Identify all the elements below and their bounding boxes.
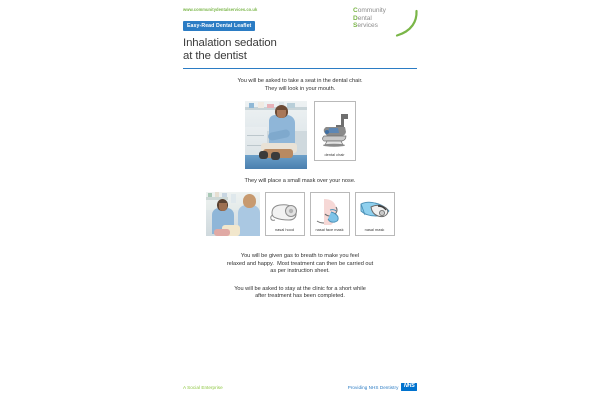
page-title: Inhalation sedation at the dentist [183,37,418,63]
logo-rest-dental: ental [358,15,372,22]
photo2-nurse-uniform [238,205,260,236]
screenshot-viewport: www.communitydentalservices.co.uk Easy-R… [0,0,600,400]
photo-dentist-face [277,110,286,118]
pictogram-nasal-mask: nasal mask [355,192,395,236]
nasal-hood-icon [269,200,301,224]
header-divider [183,68,417,70]
figure-row-chair: dental chair [172,101,428,169]
pictogram-nasal-face-mask: nasal face mask [310,192,350,236]
photo2-patient-shoulder [214,229,230,236]
photo-dentist-examining-patient-in-chair [245,101,307,169]
photo2-bg-bottle-c [222,193,227,197]
paragraph-gas-and-treatment: You will be given gas to breath to make … [172,253,428,275]
paragraph-3-line-3: as per instruction sheet. [188,268,412,275]
paragraph-4-line-2: after treatment has been completed. [188,293,412,300]
logo-rest-services: ervices [357,22,378,29]
photo2-bg-bottle-a [208,193,212,197]
pictogram-nasal-face-mask-art [311,196,349,227]
nhs-logo: NHS [401,383,417,391]
photo-bg-box-a [258,102,264,108]
paragraph-3-line-1: You will be given gas to breath to make … [188,253,412,260]
pictogram-nasal-hood-art [266,196,304,227]
pictogram-nasal-hood-caption: nasal hood [275,227,294,235]
paragraph-3-line-2: relaxed and happy. Most treatment can th… [188,261,412,268]
photo-patient-shoe-right [271,152,280,160]
photo2-bg-bottle-d [231,194,236,203]
photo-bg-bottle-a [249,103,254,108]
pictogram-dental-chair: dental chair [314,101,356,161]
pictogram-dental-chair-caption: dental chair [324,152,344,160]
paragraph-1-line-2: They will look in your mouth. [188,86,412,93]
green-swoosh-icon [392,10,418,37]
figure-row-masks: nasal hood nasal face mask [172,192,428,236]
pictogram-nasal-face-mask-caption: nasal face mask [315,227,343,235]
paragraph-small-mask: They will place a small mask over your n… [172,178,428,185]
photo-bg-box-b [267,104,274,108]
nasal-face-mask-icon [314,199,346,225]
paragraph-stay-at-clinic: You will be asked to stay at the clinic … [172,286,428,301]
providing-nhs-dentistry-label: Providing NHS Dentistry [348,385,399,390]
paragraph-4-line-1: You will be asked to stay at the clinic … [188,286,412,293]
logo-rest-community: ommunity [358,7,386,14]
photo-cabinet-line-1 [247,135,264,136]
leaflet-page: www.communitydentalservices.co.uk Easy-R… [172,0,428,400]
nhs-footer-group: Providing NHS Dentistry NHS [348,383,417,391]
photo-dentist-and-nurse-with-patient [206,192,260,236]
easy-read-badge: Easy-Read Dental Leaflet [183,21,255,30]
pictogram-nasal-mask-caption: nasal mask [365,227,385,235]
photo2-nurse-head [243,194,256,208]
social-enterprise-label: A Social Enterprise [183,385,223,390]
leaflet-header: www.communitydentalservices.co.uk Easy-R… [172,0,428,63]
photo2-dentist-face [219,203,227,211]
pictogram-nasal-mask-art [356,196,394,227]
paragraph-1-line-1: You will be asked to take a seat in the … [188,78,412,85]
photo2-bg-bottle-b [215,192,219,197]
dental-chair-icon [318,111,352,147]
community-dental-services-logo: Community Dental Services [353,7,419,39]
photo-patient-shoe-left [259,151,268,159]
nasal-mask-icon [359,200,391,224]
pictogram-dental-chair-art [315,106,355,152]
photo-bg-box-d [287,103,295,108]
pictogram-nasal-hood: nasal hood [265,192,305,236]
page-title-line-2: at the dentist [183,50,418,63]
paragraph-seat-in-chair: You will be asked to take a seat in the … [172,78,428,93]
leaflet-footer: A Social Enterprise Providing NHS Dentis… [172,383,428,391]
paragraph-2-line-1: They will place a small mask over your n… [188,178,412,185]
